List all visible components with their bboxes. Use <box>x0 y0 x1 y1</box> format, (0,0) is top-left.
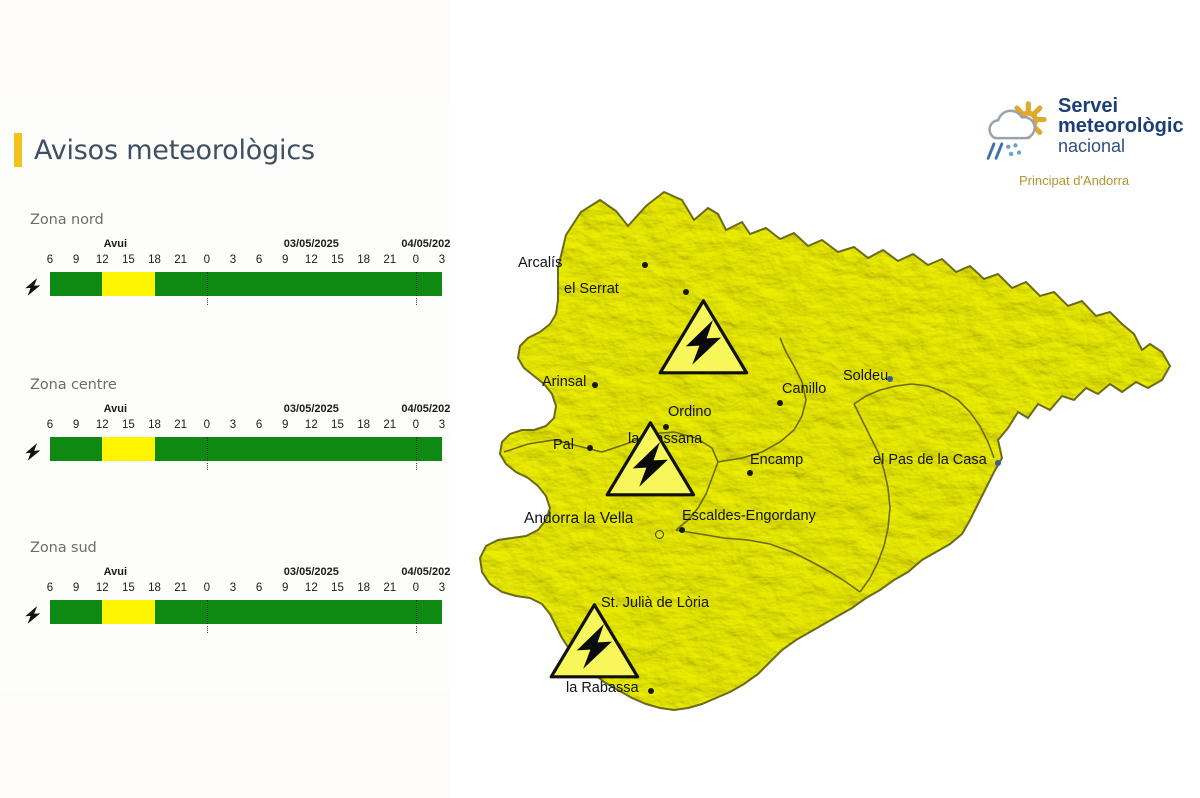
zone-title: Zona nord <box>30 212 104 228</box>
warning-segment-green <box>50 437 102 461</box>
timeline-hour-label: 3 <box>439 419 445 431</box>
timeline-day-label: 04/05/2025 <box>401 403 456 415</box>
warning-level-bar[interactable] <box>50 600 442 624</box>
timeline-hour-label: 0 <box>204 254 210 266</box>
timeline-day-label: Avui <box>104 403 127 415</box>
map-city-dot <box>679 527 685 533</box>
timeline-hour-label: 18 <box>148 254 161 266</box>
map-city-dot <box>887 376 893 382</box>
timeline-hour-label: 0 <box>413 582 419 594</box>
timeline-hour-label: 18 <box>357 582 370 594</box>
timeline-hour-label: 0 <box>204 582 210 594</box>
map-city-label: el Pas de la Casa <box>873 452 987 468</box>
timeline-hour-label: 15 <box>122 254 135 266</box>
timeline-hour-label: 9 <box>73 254 79 266</box>
timeline-day-label: 03/05/2025 <box>284 566 339 578</box>
page-title: Avisos meteorològics <box>14 133 315 167</box>
timeline-hour-label: 3 <box>439 254 445 266</box>
timeline-hour-labels: 691215182103691215182103 <box>50 254 442 269</box>
timeline-hour-label: 15 <box>331 582 344 594</box>
lightning-bolt-icon <box>22 604 44 626</box>
timeline-hour-label: 6 <box>47 254 53 266</box>
map-city-dot <box>592 382 598 388</box>
map-city-label: Encamp <box>750 452 803 468</box>
map-city-label: Arinsal <box>542 374 586 390</box>
zone-title: Zona centre <box>30 377 117 393</box>
timeline-hour-label: 3 <box>230 582 236 594</box>
timeline-hour-label: 21 <box>383 419 396 431</box>
map-city-dot <box>995 460 1001 466</box>
timeline-hour-label: 6 <box>256 419 262 431</box>
timeline-hour-labels: 691215182103691215182103 <box>50 582 442 597</box>
warning-segment-yellow <box>102 437 154 461</box>
timeline-hour-label: 21 <box>174 419 187 431</box>
timeline-day-labels: Avui03/05/202504/05/2025 <box>50 403 442 417</box>
logo-line-3: nacional <box>1058 137 1184 155</box>
timeline-day-label: Avui <box>104 566 127 578</box>
timeline-hour-label: 18 <box>148 582 161 594</box>
warning-segment-green <box>155 437 442 461</box>
timeline-hour-label: 3 <box>230 419 236 431</box>
timeline-hour-label: 6 <box>256 582 262 594</box>
timeline-hour-label: 12 <box>96 582 109 594</box>
timeline-hour-label: 21 <box>383 254 396 266</box>
timeline-day-label: 03/05/2025 <box>284 238 339 250</box>
timeline-hour-label: 6 <box>47 419 53 431</box>
timeline-hour-label: 12 <box>96 254 109 266</box>
timeline-hour-label: 21 <box>383 582 396 594</box>
timeline-hour-label: 0 <box>413 419 419 431</box>
zone-title: Zona sud <box>30 540 97 556</box>
map-city-label: Pal <box>553 437 574 453</box>
warning-level-bar[interactable] <box>50 272 442 296</box>
warning-triangle-centre[interactable] <box>604 418 697 503</box>
warnings-panel <box>0 0 450 798</box>
logo-line-1: Servei <box>1058 96 1184 116</box>
map-city-dot <box>747 470 753 476</box>
timeline-hour-label: 9 <box>282 419 288 431</box>
timeline-hour-label: 9 <box>282 254 288 266</box>
zone-timeline-row <box>22 272 442 302</box>
timeline-hour-label: 18 <box>148 419 161 431</box>
timeline-hour-label: 12 <box>305 254 318 266</box>
map-city-dot <box>648 688 654 694</box>
warning-segment-green <box>155 272 442 296</box>
logo-line-2: meteorològic <box>1058 116 1184 136</box>
map-city-label: Soldeu <box>843 368 888 384</box>
smn-logo-header: Servei meteorològic nacional <box>978 96 1184 164</box>
page-title-text: Avisos meteorològics <box>34 135 315 166</box>
warning-segment-green <box>155 600 442 624</box>
timeline-day-labels: Avui03/05/202504/05/2025 <box>50 238 442 252</box>
warning-segment-green <box>50 272 102 296</box>
zone-timeline-row <box>22 600 442 630</box>
warning-level-bar[interactable] <box>50 437 442 461</box>
sun-cloud-rain-snow-icon <box>978 98 1050 164</box>
map-city-dot <box>642 262 648 268</box>
timeline-hour-label: 0 <box>413 254 419 266</box>
timeline-hour-label: 6 <box>47 582 53 594</box>
timeline-hour-label: 6 <box>256 254 262 266</box>
timeline-hour-label: 18 <box>357 254 370 266</box>
logo-subtitle-header: Principat d'Andorra <box>1019 173 1129 188</box>
timeline-day-label: Avui <box>104 238 127 250</box>
lightning-bolt-icon <box>22 276 44 298</box>
timeline-hour-label: 15 <box>122 582 135 594</box>
timeline-hour-label: 9 <box>73 582 79 594</box>
timeline-hour-label: 3 <box>230 254 236 266</box>
map-city-label: Escaldes-Engordany <box>682 508 816 524</box>
timeline-day-label: 04/05/2025 <box>401 566 456 578</box>
timeline-hour-label: 15 <box>122 419 135 431</box>
timeline-hour-label: 12 <box>305 582 318 594</box>
timeline-day-label: 04/05/2025 <box>401 238 456 250</box>
warning-segment-green <box>50 600 102 624</box>
timeline-day-labels: Avui03/05/202504/05/2025 <box>50 566 442 580</box>
warning-triangle-sud[interactable] <box>548 600 641 685</box>
timeline-hour-label: 3 <box>439 582 445 594</box>
map-city-dot <box>587 445 593 451</box>
map-city-dot <box>655 530 664 539</box>
timeline-hour-label: 21 <box>174 582 187 594</box>
map-city-label: Andorra la Vella <box>524 510 633 528</box>
map-city-dot <box>777 400 783 406</box>
zone-timeline-row <box>22 437 442 467</box>
timeline-hour-labels: 691215182103691215182103 <box>50 419 442 434</box>
timeline-hour-label: 12 <box>305 419 318 431</box>
timeline-day-label: 03/05/2025 <box>284 403 339 415</box>
timeline-hour-label: 9 <box>282 582 288 594</box>
map-city-dot <box>683 289 689 295</box>
timeline-hour-label: 12 <box>96 419 109 431</box>
map-city-label: Canillo <box>782 381 826 397</box>
title-accent-bar <box>14 133 22 167</box>
lightning-bolt-icon <box>22 441 44 463</box>
timeline-hour-label: 15 <box>331 419 344 431</box>
timeline-hour-label: 21 <box>174 254 187 266</box>
map-city-label: el Serrat <box>564 281 619 297</box>
warning-segment-yellow <box>102 600 154 624</box>
map-city-label: Arcalís <box>518 255 562 271</box>
warning-segment-yellow <box>102 272 154 296</box>
timeline-hour-label: 18 <box>357 419 370 431</box>
warning-triangle-nord[interactable] <box>657 296 750 381</box>
timeline-hour-label: 0 <box>204 419 210 431</box>
timeline-hour-label: 15 <box>331 254 344 266</box>
timeline-hour-label: 9 <box>73 419 79 431</box>
